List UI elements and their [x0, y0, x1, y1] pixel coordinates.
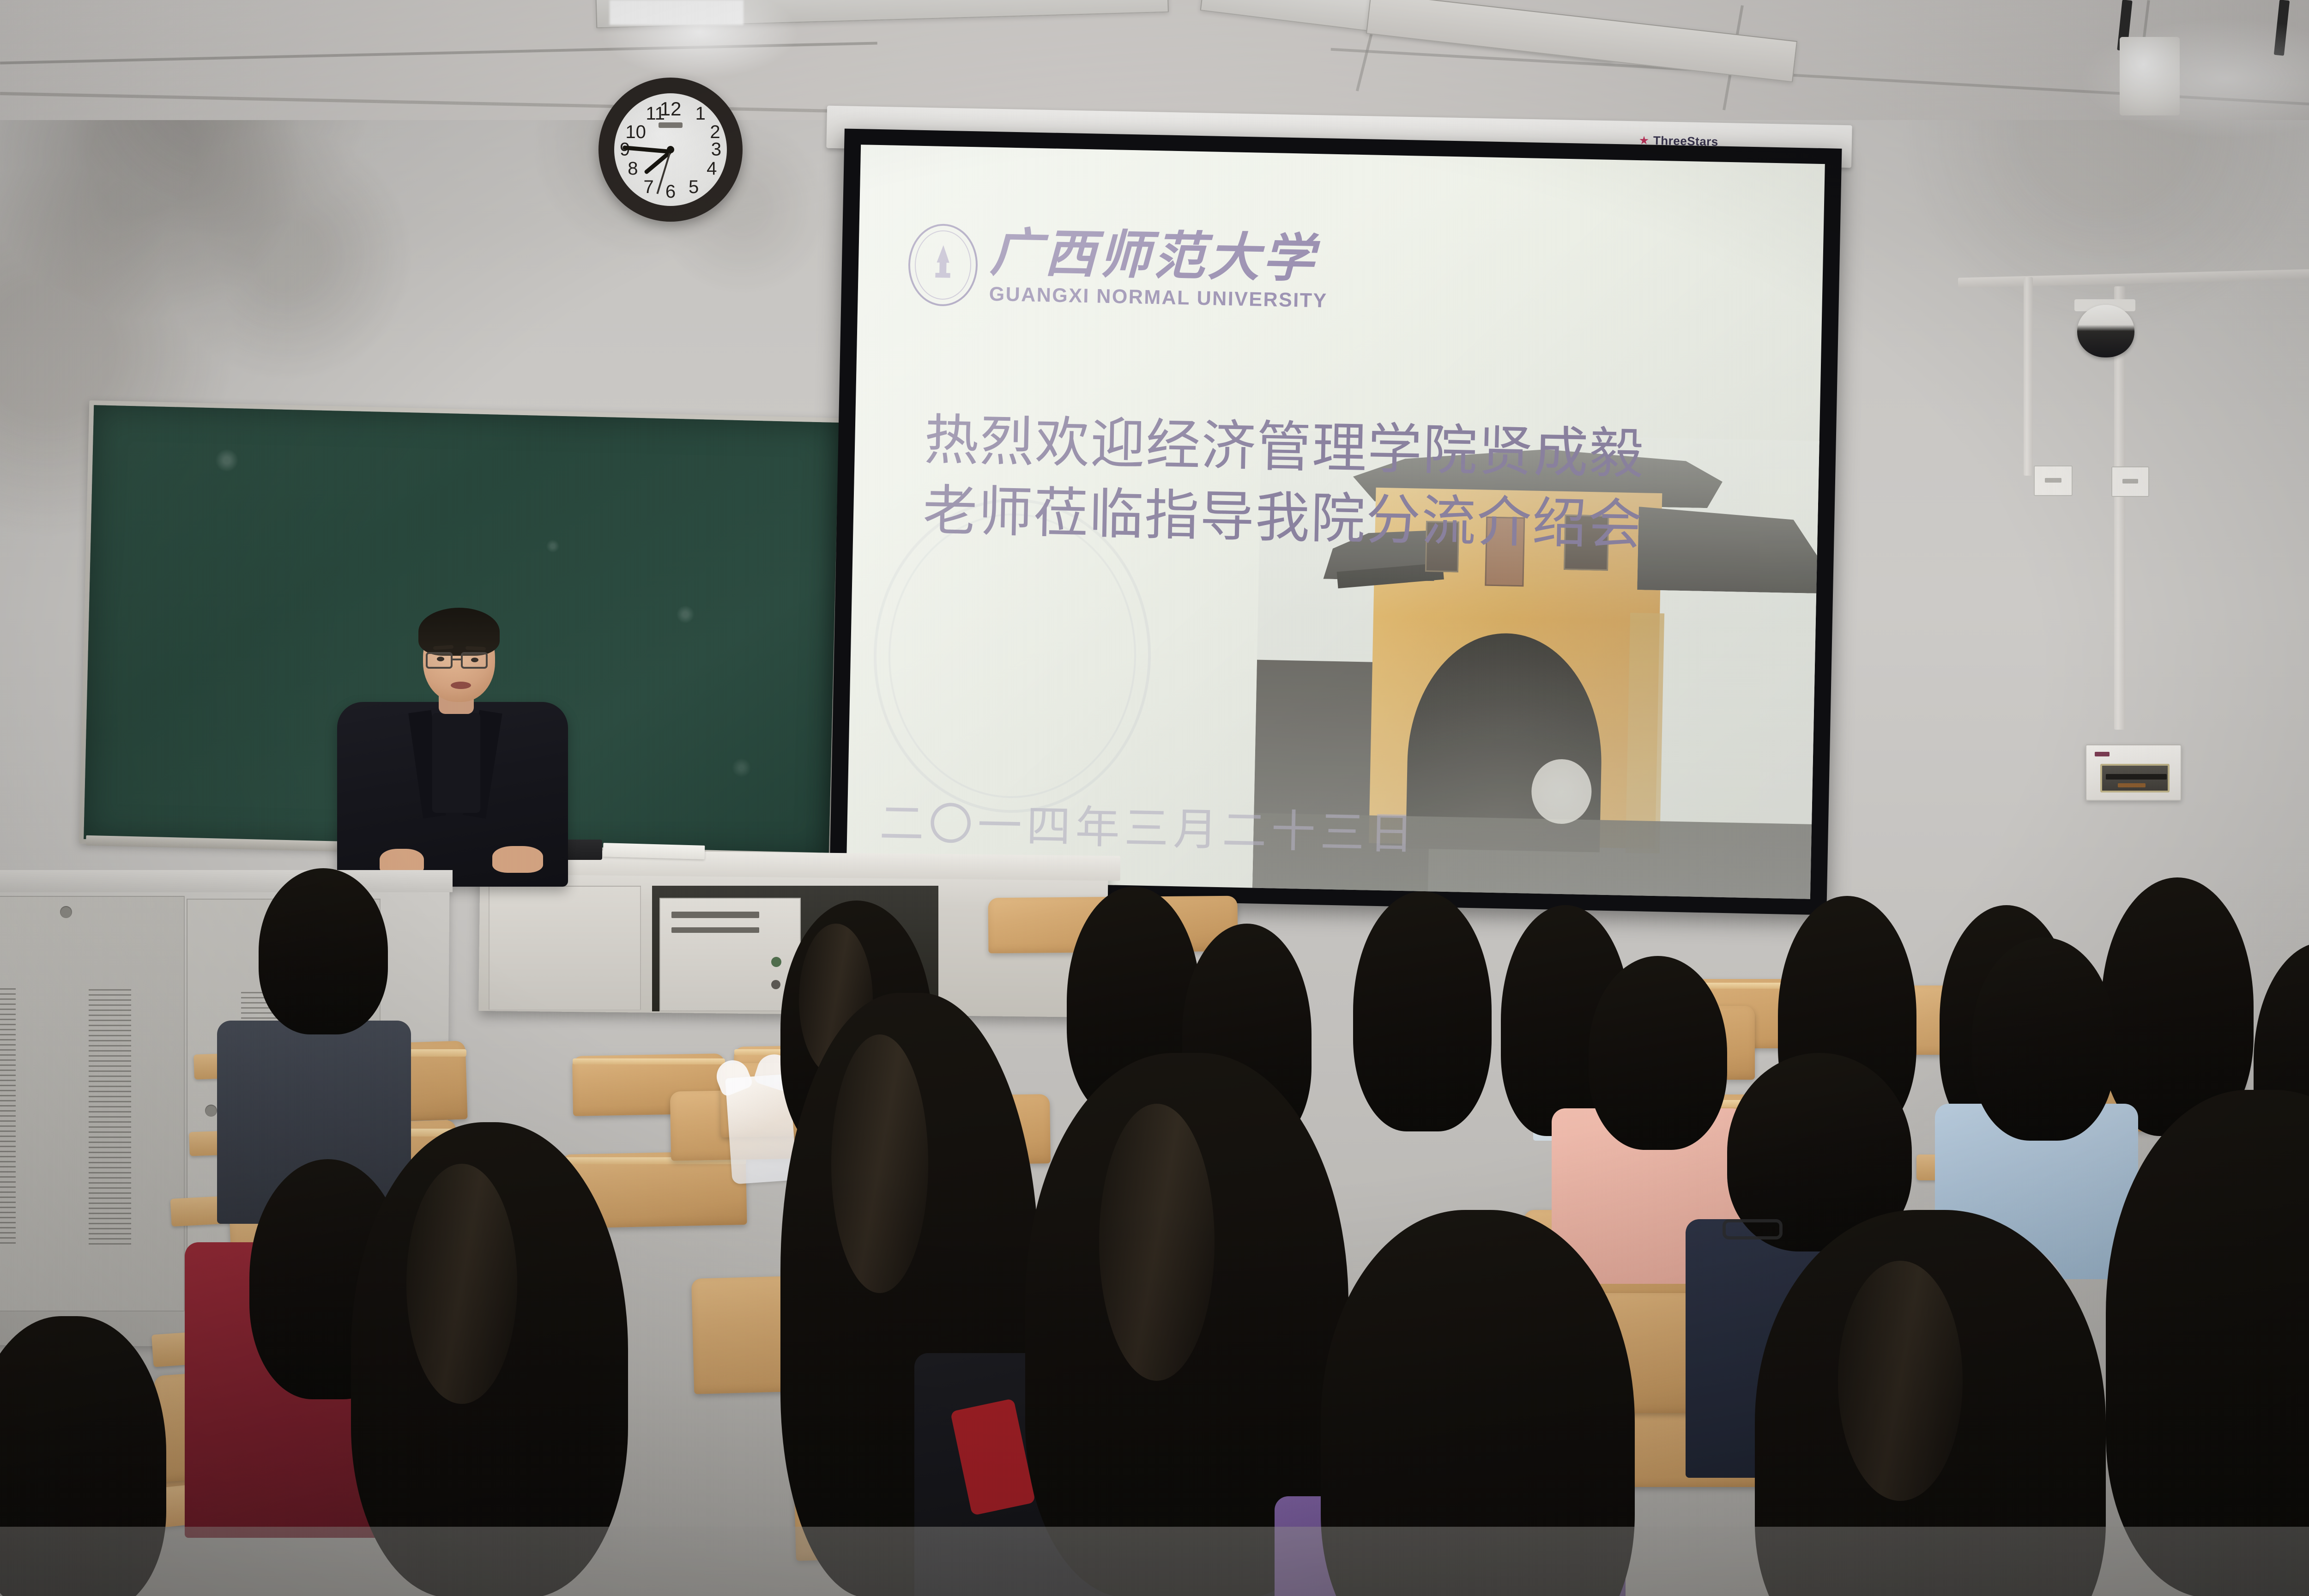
- eyeglass-bridge: [452, 659, 462, 660]
- wall-outlet-right[interactable]: [2111, 466, 2149, 497]
- podium-computer: [659, 898, 801, 1011]
- clock-numeral-5: 5: [689, 177, 699, 198]
- clock-face: 12 1 2 3 4 5 6 7 8 9 10 11: [614, 93, 727, 206]
- breaker-switch-row: [2106, 774, 2167, 780]
- university-seal-icon: [907, 223, 979, 307]
- computer-drive-slot-2[interactable]: [671, 927, 759, 933]
- hair-highlight: [406, 1164, 517, 1404]
- ceiling-light-glow-right: [2078, 18, 2309, 139]
- presenter-hair: [418, 608, 500, 656]
- student-hair: [1589, 956, 1727, 1150]
- seal-pagoda-mark-icon: [928, 245, 958, 285]
- presenter-mouth: [451, 682, 471, 689]
- podium-front-panel: [489, 886, 641, 1010]
- security-camera-dome-icon: [2077, 305, 2134, 357]
- clock-numeral-4: 4: [707, 158, 717, 179]
- wall-conduit-vertical-left: [2024, 277, 2033, 476]
- clock-numeral-11: 11: [646, 103, 665, 124]
- student-hair: [1353, 891, 1492, 1131]
- student-hair: [1972, 937, 2115, 1141]
- slide-university-logo: 广西师范大学 GUANGXI NORMAL UNIVERSITY: [907, 223, 1329, 314]
- locker-handle-2[interactable]: [205, 1105, 217, 1117]
- slide-date: 二〇一四年三月二十三日: [879, 787, 1419, 862]
- hair-highlight: [1099, 1104, 1215, 1381]
- clock-numeral-8: 8: [628, 158, 638, 179]
- slide-title-block: 热烈欢迎经济管理学院贤成毅 老师莅临指导我院分流介绍会: [922, 405, 1738, 562]
- locker-vent-2: [89, 989, 131, 1248]
- lecture-hall-photo: 12 1 2 3 4 5 6 7 8 9 10 11 Th: [0, 0, 2309, 1596]
- clock-numeral-7: 7: [643, 177, 653, 198]
- hair-highlight: [831, 1034, 928, 1293]
- presenter-eyeglasses-icon: [426, 651, 495, 671]
- breaker-switch-row-2: [2118, 783, 2146, 787]
- student-hair: [259, 868, 388, 1034]
- breaker-window: [2100, 764, 2170, 792]
- clock-brand-mark: [659, 122, 683, 128]
- seat-edge-back-1: [573, 1058, 725, 1064]
- projector-screen-border: 广西师范大学 GUANGXI NORMAL UNIVERSITY 热烈欢迎经济管…: [829, 128, 1842, 915]
- ceiling-light-tube-left: [610, 0, 743, 25]
- student-eyeglasses-icon: [1723, 1219, 1783, 1239]
- electrical-breaker-box[interactable]: [2085, 744, 2182, 801]
- computer-status-led: [771, 980, 780, 989]
- presenter-eye-right: [471, 658, 478, 662]
- presenter-eye-left: [437, 657, 444, 661]
- projector-screen-surface: 广西师范大学 GUANGXI NORMAL UNIVERSITY 热烈欢迎经济管…: [846, 145, 1825, 899]
- computer-power-button[interactable]: [771, 957, 781, 967]
- clock-numeral-3: 3: [711, 139, 721, 160]
- presenter: [323, 596, 582, 882]
- presenter-hand-right: [492, 846, 543, 873]
- clock-center-pin: [667, 146, 674, 153]
- presenter-inner-shirt: [432, 713, 480, 813]
- hair-highlight: [1838, 1261, 1963, 1501]
- clock-numeral-1: 1: [695, 103, 706, 124]
- threestars-star-icon: [1639, 136, 1649, 145]
- podium-papers[interactable]: [603, 843, 705, 859]
- computer-drive-slot[interactable]: [671, 912, 759, 918]
- floor-edge: [0, 1527, 2309, 1596]
- university-name-cn: 广西师范大学: [989, 226, 1329, 285]
- locker-handle-1[interactable]: [60, 906, 72, 918]
- clock-numeral-10: 10: [625, 122, 646, 143]
- wall-clock: 12 1 2 3 4 5 6 7 8 9 10 11: [598, 78, 743, 222]
- clock-numeral-6: 6: [665, 181, 676, 202]
- locker-top-ledge: [0, 870, 453, 892]
- wall-outlet-left[interactable]: [2034, 465, 2073, 496]
- breaker-indicator-led: [2095, 752, 2110, 756]
- locker-vent-1: [0, 988, 16, 1247]
